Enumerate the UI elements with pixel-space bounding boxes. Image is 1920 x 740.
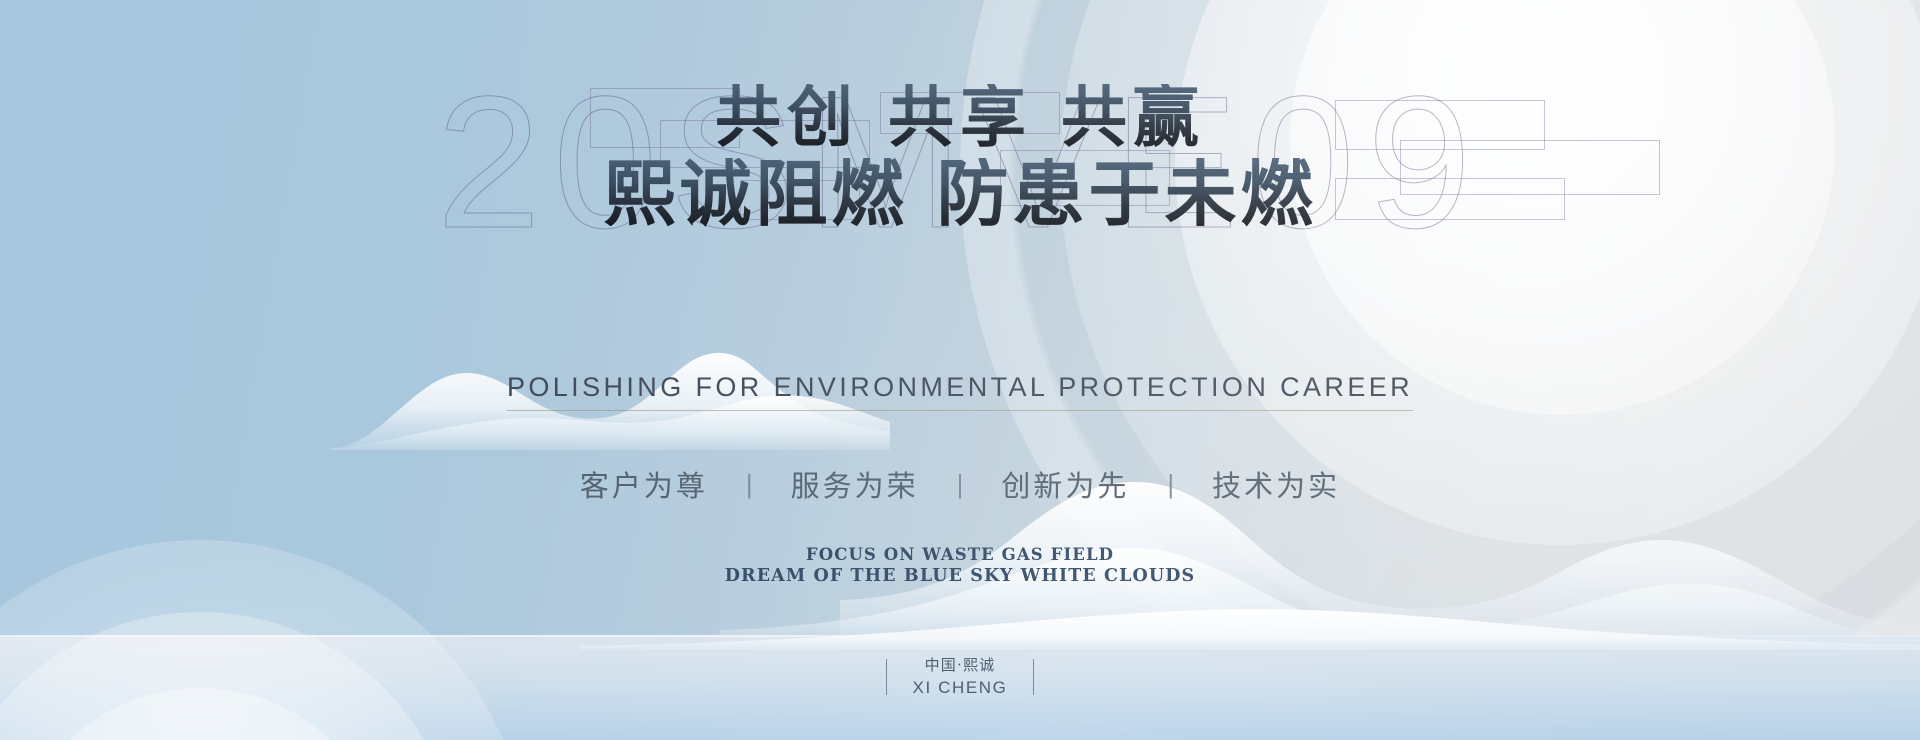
tagline-wrap: POLISHING FOR ENVIRONMENTAL PROTECTION C… (0, 372, 1920, 411)
value-item-3: 创新为先 (971, 463, 1159, 505)
value-item-2: 服务为荣 (761, 463, 949, 505)
tagline-text: POLISHING FOR ENVIRONMENTAL PROTECTION C… (507, 372, 1413, 411)
value-item-4: 技术为实 (1182, 463, 1370, 505)
brand-block: 中国·熙诚 XI CHENG (0, 655, 1920, 699)
brand-divider-right (1033, 659, 1034, 695)
brand-name-en: XI CHENG (913, 676, 1008, 699)
subcaption-line-1: FOCUS ON WASTE GAS FIELD (0, 544, 1920, 565)
headline-line-1: 共创 共享 共赢 (0, 84, 1920, 150)
value-item-1: 客户为尊 (550, 463, 738, 505)
value-separator: | (949, 471, 972, 497)
banner-canvas: 20SMVE09 共创 共享 共赢 熙诚阻燃 防患于未燃 (0, 0, 1920, 740)
headline-line-2: 熙诚阻燃 防患于未燃 (0, 158, 1920, 230)
values-row: 客户为尊 | 服务为荣 | 创新为先 | 技术为实 (0, 463, 1920, 505)
subcaption-block: FOCUS ON WASTE GAS FIELD DREAM OF THE BL… (0, 544, 1920, 588)
value-separator: | (738, 471, 761, 497)
brand-name-cn: 中国·熙诚 (913, 655, 1008, 676)
brand-divider-left (886, 659, 887, 695)
headline-block: 共创 共享 共赢 熙诚阻燃 防患于未燃 (0, 84, 1920, 230)
value-separator: | (1159, 471, 1182, 497)
brand-text: 中国·熙诚 XI CHENG (913, 655, 1008, 699)
subcaption-line-2: DREAM OF THE BLUE SKY WHITE CLOUDS (0, 565, 1920, 588)
